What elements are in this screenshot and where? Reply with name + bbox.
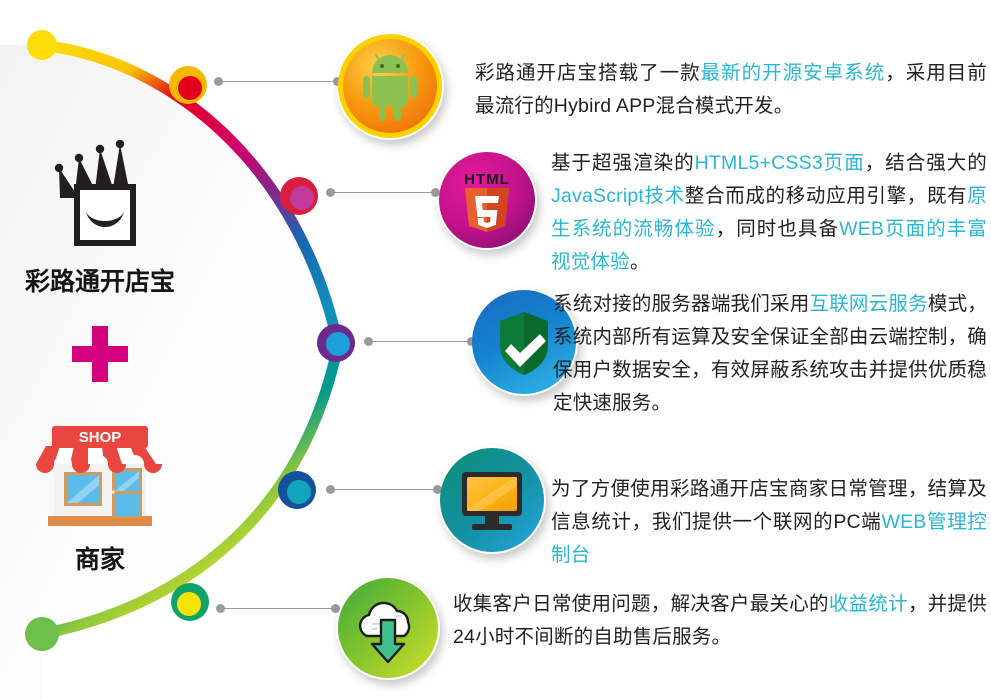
connector-line — [219, 81, 337, 82]
connector-after-sales — [216, 604, 340, 614]
android-robot-icon — [336, 32, 444, 140]
step-text-after-sales: 收集客户日常使用问题，解决客户最关心的收益统计，并提供24小时不间断的自助售后服… — [453, 588, 987, 654]
step-text-html5: 基于超强渲染的HTML5+CSS3页面，结合强大的JavaScript技术整合而… — [551, 147, 987, 279]
connector-line — [369, 341, 471, 342]
arc-node-html5[interactable] — [280, 177, 318, 215]
highlighted-phrase: JavaScript技术 — [551, 185, 685, 207]
body-phrase: 。 — [630, 251, 650, 273]
connector-line — [221, 608, 335, 609]
connector-android — [214, 77, 342, 87]
body-phrase: ，结合强大的 — [865, 152, 987, 174]
shop-name-label: 商家 — [75, 540, 125, 576]
brand-column: 彩路通开店宝 — [0, 140, 200, 576]
connector-cloud-security — [364, 337, 476, 347]
crown-smile-logo-icon — [48, 140, 152, 256]
body-phrase: 彩路通开店宝搭载了一款 — [475, 62, 701, 84]
cloud-download-icon — [336, 576, 440, 680]
pc-console-badge[interactable] — [438, 446, 546, 554]
connector-line — [331, 192, 435, 193]
html5-badge[interactable]: HTML — [437, 150, 537, 250]
highlighted-phrase: 互联网云服务 — [809, 293, 927, 315]
arc-end-cap — [25, 617, 59, 651]
highlighted-phrase: 收益统计 — [829, 593, 908, 615]
arc-node-cloud-security[interactable] — [317, 324, 355, 362]
android-badge[interactable] — [336, 32, 444, 140]
body-phrase: 整合而成的移动应用引擎，既有 — [685, 185, 967, 207]
desktop-monitor-icon — [438, 446, 546, 554]
arc-node-after-sales[interactable] — [171, 583, 209, 621]
shop-storefront-icon: SHOP — [32, 406, 168, 534]
step-text-android: 彩路通开店宝搭载了一款最新的开源安卓系统，采用目前最流行的Hybird APP混… — [475, 57, 987, 123]
arc-start-cap — [27, 30, 57, 60]
infographic-canvas: 彩路通开店宝 — [0, 0, 991, 699]
html5-shield-icon: HTML — [437, 150, 537, 250]
highlighted-phrase: HTML5+CSS3页面 — [695, 152, 865, 174]
highlighted-phrase: 最新的开源安卓系统 — [701, 62, 886, 84]
after-sales-badge[interactable] — [336, 576, 440, 680]
shop-sign-label: SHOP — [79, 429, 122, 446]
body-phrase: ，同时也具备 — [716, 218, 839, 240]
brand-name-label: 彩路通开店宝 — [25, 262, 175, 298]
svg-text:HTML: HTML — [464, 171, 510, 188]
body-phrase: 基于超强渲染的 — [551, 152, 695, 174]
plus-sign-icon — [72, 326, 128, 382]
body-phrase: 收集客户日常使用问题，解决客户最关心的 — [453, 593, 829, 615]
body-phrase: 系统对接的服务器端我们采用 — [553, 293, 809, 315]
arc-node-pc-console[interactable] — [278, 471, 316, 509]
step-text-pc-console: 为了方便使用彩路通开店宝商家日常管理，结算及信息统计，我们提供一个联网的PC端W… — [551, 473, 987, 572]
connector-pc-console — [326, 485, 442, 495]
step-text-cloud-security: 系统对接的服务器端我们采用互联网云服务模式，系统内部所有运算及安全保证全部由云端… — [553, 288, 987, 420]
connector-html5 — [326, 188, 440, 198]
connector-line — [331, 489, 437, 490]
arc-node-android[interactable] — [169, 66, 207, 104]
